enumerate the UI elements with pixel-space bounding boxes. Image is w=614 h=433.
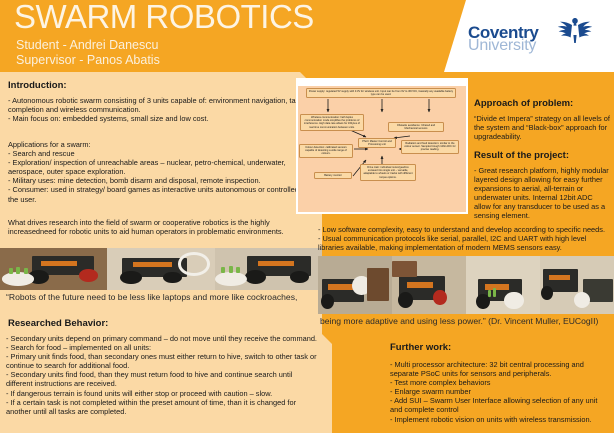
researched-behaviour-body: - Secondary units depend on primary comm… [6,334,318,416]
robot-photo [107,248,214,290]
diagram-box-colour-detection: Colour detection: calibrated sensors cap… [299,144,353,158]
introduction-body: - Autonomous robotic swarm consisting of… [8,96,304,123]
quote-line-2: being more adaptive and using less power… [320,316,598,326]
software-protocols-body: - Low software complexity, easy to under… [318,225,610,252]
university-logo: Coventry University [454,16,604,68]
further-work-heading: Further work: [390,342,451,353]
quote-line-1: “Robots of the future need to be less li… [6,292,297,302]
phoenix-bird-icon [552,12,598,46]
research-drivers-body: What drives research into the field of s… [8,218,308,236]
diagram-box-obstacle-avoidance: Obstacle avoidance: Infrared and Mechani… [388,122,444,132]
approach-heading: Approach of problem: [474,98,573,109]
diagram-canvas: Power supply: regulated 5V supply with 3… [298,86,466,212]
poster-header: SWARM ROBOTICS Student - Andrei Danescu … [0,0,614,72]
further-work-body: - Multi processor architecture: 32 bit c… [390,360,608,424]
robot-photo [392,256,466,314]
applications-body: Applications for a swarm: - Search and r… [8,140,310,204]
robot-photo [540,256,614,314]
diagram-box-radiation-detection: Radiation and food detection: similar to… [401,140,459,154]
robot-photo [0,248,107,290]
student-credit: Student - Andrei Danescu [16,38,158,53]
result-heading: Result of the project: [474,150,569,161]
logo-wordmark: Coventry University [468,25,539,53]
left-lower-panel-wedge [318,330,332,433]
robot-photo-strip-right [318,256,614,314]
approach-body: “Divide et Impera” strategy on all level… [474,114,610,141]
diagram-box-wireless-comm: Wireless communication: half duplex comm… [300,114,364,131]
diagram-box-drive-train: Drive train: individual motor/gearbox en… [360,164,416,181]
system-block-diagram: Power supply: regulated 5V supply with 3… [296,78,468,214]
diagram-box-power-supply: Power supply: regulated 5V supply with 3… [306,88,456,98]
diagram-box-psoc-master-control: PSoC Master Control and Processing unit [358,138,396,148]
result-body: - Great research platform, highly modula… [474,166,610,221]
robot-photo [466,256,540,314]
logo-line-university: University [468,38,539,53]
robot-photo-strip-left [0,248,322,290]
supervisor-credit: Supervisor - Panos Abatis [16,53,160,68]
diagram-box-battery-monitor: Battery monitor [314,172,352,179]
page-title: SWARM ROBOTICS [14,0,314,36]
poster-canvas: SWARM ROBOTICS Student - Andrei Danescu … [0,0,614,433]
robot-photo [215,248,322,290]
researched-behaviour-heading: Researched Behavior: [8,318,108,329]
introduction-heading: Introduction: [8,80,67,91]
robot-photo [318,256,392,314]
